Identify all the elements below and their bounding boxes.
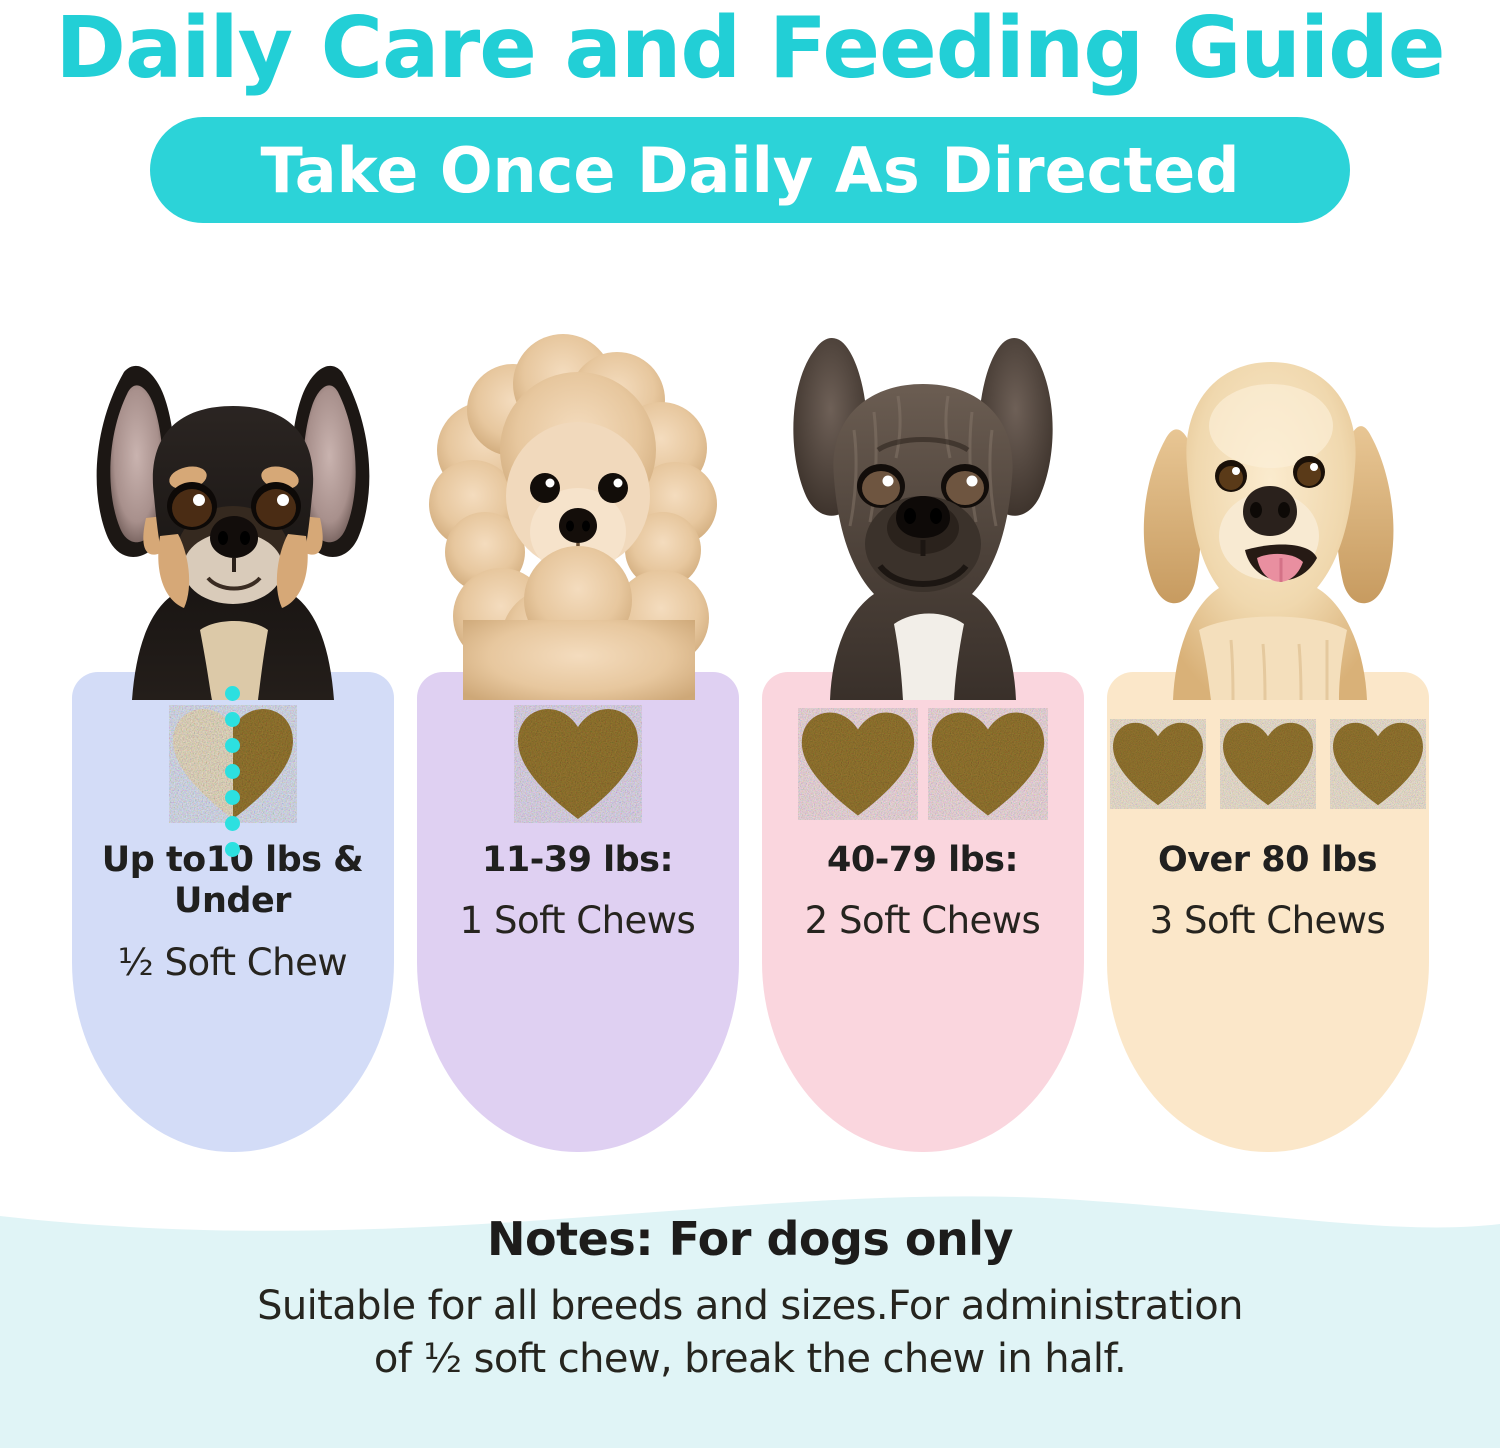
dosage-cards: Up to10 lbs & Under ½ Soft Chew [0, 300, 1500, 1180]
weight-range-label: Over 80 lbs [1152, 840, 1383, 881]
heart-chew-icon [514, 705, 642, 823]
dose-label: 2 Soft Chews [805, 899, 1041, 942]
chew-illustration-3 [1107, 694, 1429, 834]
heart-chew-icon [1330, 719, 1426, 809]
card-content: Over 80 lbs 3 Soft Chews [1107, 672, 1429, 1152]
chew-illustration-1 [417, 694, 739, 834]
dosage-card-11-39lbs: 11-39 lbs: 1 Soft Chews [413, 300, 743, 1180]
break-line-dots [225, 686, 241, 844]
banner-wrap: Take Once Daily As Directed [0, 117, 1500, 223]
dosage-card-over-80lbs: Over 80 lbs 3 Soft Chews [1103, 300, 1433, 1180]
notes-line-1: Suitable for all breeds and sizes.For ad… [257, 1280, 1243, 1333]
french-bulldog-photo [758, 300, 1088, 700]
notes-body: Suitable for all breeds and sizes.For ad… [257, 1280, 1243, 1386]
chihuahua-photo [68, 300, 398, 700]
heart-chew-icon [928, 708, 1048, 820]
card-content: Up to10 lbs & Under ½ Soft Chew [72, 672, 394, 1152]
notes-line-2: of ½ soft chew, break the chew in half. [257, 1333, 1243, 1386]
dosage-card-40-79lbs: 40-79 lbs: 2 Soft Chews [758, 300, 1088, 1180]
half-chew [168, 694, 298, 834]
directions-banner: Take Once Daily As Directed [150, 117, 1350, 223]
golden-retriever-photo [1103, 300, 1433, 700]
chew-illustration-half [72, 694, 394, 834]
page-title: Daily Care and Feeding Guide [0, 0, 1500, 91]
dose-label: 3 Soft Chews [1150, 899, 1386, 942]
weight-range-label: 11-39 lbs: [476, 840, 679, 881]
card-content: 11-39 lbs: 1 Soft Chews [417, 672, 739, 1152]
dose-label: ½ Soft Chew [118, 941, 347, 984]
heart-chew-icon [1220, 719, 1316, 809]
notes-title: Notes: For dogs only [487, 1212, 1013, 1266]
poodle-photo [413, 300, 743, 700]
heart-chew-icon [1110, 719, 1206, 809]
card-content: 40-79 lbs: 2 Soft Chews [762, 672, 1084, 1152]
dose-label: 1 Soft Chews [460, 899, 696, 942]
chew-illustration-2 [762, 694, 1084, 834]
weight-range-label: 40-79 lbs: [821, 840, 1024, 881]
notes-section: Notes: For dogs only Suitable for all br… [0, 1178, 1500, 1448]
heart-chew-icon [798, 708, 918, 820]
dosage-card-up-to-10lbs: Up to10 lbs & Under ½ Soft Chew [68, 300, 398, 1180]
